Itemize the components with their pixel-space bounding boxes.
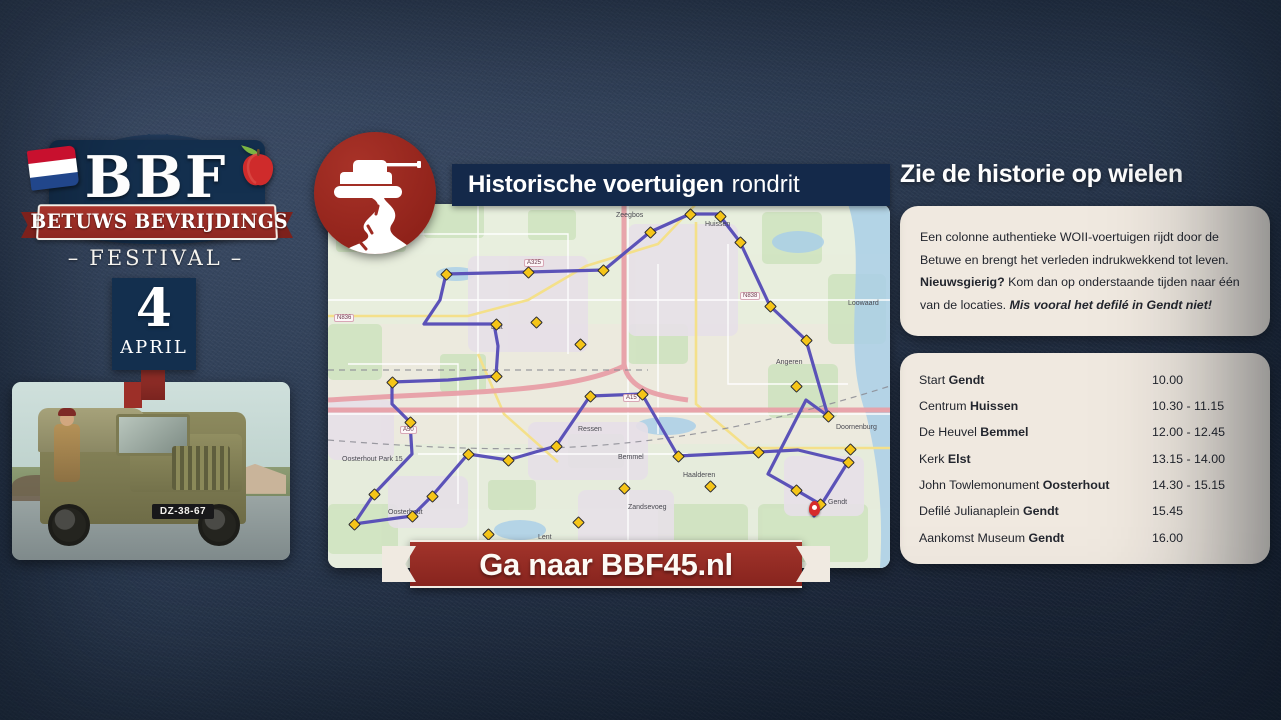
schedule-row: Aankomst Museum Gendt16.00 <box>919 525 1250 551</box>
schedule-location: Start Gendt <box>919 373 1152 387</box>
right-column: Zie de historie op wielen Een colonne au… <box>900 160 1270 564</box>
schedule-row: Kerk Elst13.15 - 14.00 <box>919 445 1250 471</box>
schedule-location-place: Oosterhout <box>1043 478 1110 492</box>
info-bold-1: Nieuwsgierig? <box>920 275 1005 289</box>
photo-flag <box>124 382 142 408</box>
schedule-location-place: Gendt <box>949 373 985 387</box>
netherlands-flag-icon <box>27 145 80 191</box>
schedule-row: De Heuvel Bemmel12.00 - 12.45 <box>919 419 1250 445</box>
festival-label: FESTIVAL <box>89 246 222 270</box>
date-month: APRIL <box>112 337 196 358</box>
gendt-destination-pin[interactable] <box>809 501 820 516</box>
logo-ribbon: BETUWS BEVRIJDINGS <box>21 202 293 242</box>
info-part-1: Een colonne authentieke WOII-voertuigen … <box>920 230 1229 267</box>
dash-left: – <box>68 246 82 270</box>
schedule-location-place: Gendt <box>1029 531 1065 545</box>
schedule-location-place: Huissen <box>970 399 1018 413</box>
schedule-location-prefix: Start <box>919 373 949 387</box>
ribbon-label: BETUWS BEVRIJDINGS <box>31 209 284 233</box>
schedule-location: Defilé Julianaplein Gendt <box>919 504 1152 518</box>
schedule-time: 15.45 <box>1152 504 1250 518</box>
schedule-location: Kerk Elst <box>919 452 1152 466</box>
schedule-time: 16.00 <box>1152 531 1250 545</box>
schedule-location-prefix: De Heuvel <box>919 425 980 439</box>
dash-right: – <box>231 246 245 270</box>
schedule-row: Start Gendt10.00 <box>919 366 1250 392</box>
map-title-light: rondrit <box>732 171 800 199</box>
schedule-location-prefix: Kerk <box>919 452 948 466</box>
festival-subtitle: –FESTIVAL– <box>11 246 301 270</box>
map-title-bar: Historische voertuigen rondrit <box>452 164 890 206</box>
info-paragraph: Een colonne authentieke WOII-voertuigen … <box>920 226 1248 316</box>
soldier-figure <box>54 424 80 482</box>
jeep-photo: DZ-38-67 <box>12 382 290 560</box>
cta-banner[interactable]: Ga naar BBF45.nl <box>382 540 830 588</box>
schedule-card: Start Gendt10.00Centrum Huissen10.30 - 1… <box>900 353 1270 564</box>
schedule-location-place: Gendt <box>1023 504 1059 518</box>
left-column: BBF BETUWS BEVRIJDINGS –FESTIVAL– 4 APRI… <box>0 100 312 580</box>
schedule-location: Centrum Huissen <box>919 399 1152 413</box>
license-plate: DZ-38-67 <box>152 504 214 519</box>
tank-on-road-icon <box>314 132 436 254</box>
schedule-location-prefix: Centrum <box>919 399 970 413</box>
center-column: Historische voertuigen rondrit <box>310 128 890 598</box>
schedule-row: Defilé Julianaplein Gendt15.45 <box>919 498 1250 524</box>
schedule-location: Aankomst Museum Gendt <box>919 531 1152 545</box>
schedule-location-place: Bemmel <box>980 425 1028 439</box>
schedule-row: John Towlemonument Oosterhout14.30 - 15.… <box>919 472 1250 498</box>
apple-icon <box>237 144 279 188</box>
right-heading: Zie de historie op wielen <box>900 160 1270 189</box>
schedule-location-prefix: John Towlemonument <box>919 478 1043 492</box>
map-title-strong: Historische voertuigen <box>468 171 724 199</box>
schedule-time: 12.00 - 12.45 <box>1152 425 1250 439</box>
schedule-location: John Towlemonument Oosterhout <box>919 478 1152 492</box>
info-italic-1: Mis vooral het defilé in Gendt niet! <box>1010 298 1212 312</box>
jeep-wheel-rear <box>48 504 90 546</box>
cta-label: Ga naar BBF45.nl <box>382 547 830 583</box>
schedule-location-place: Elst <box>948 452 971 466</box>
schedule-time: 10.30 - 11.15 <box>1152 399 1250 413</box>
schedule-time: 14.30 - 15.15 <box>1152 478 1250 492</box>
date-stem <box>141 370 165 400</box>
schedule-location-prefix: Defilé Julianaplein <box>919 504 1023 518</box>
jeep-grille <box>172 446 230 490</box>
schedule-list: Start Gendt10.00Centrum Huissen10.30 - 1… <box>919 366 1250 551</box>
date-day: 4 <box>112 278 196 337</box>
route-map[interactable]: HuissenAngerenElstBemmelOosterhoutHaalde… <box>328 204 890 568</box>
event-date-block: 4 APRIL <box>112 278 196 370</box>
schedule-location: De Heuvel Bemmel <box>919 425 1152 439</box>
schedule-time: 10.00 <box>1152 373 1250 387</box>
festival-logo: BBF BETUWS BEVRIJDINGS –FESTIVAL– <box>11 118 301 288</box>
schedule-row: Centrum Huissen10.30 - 11.15 <box>919 393 1250 419</box>
schedule-location-prefix: Aankomst Museum <box>919 531 1029 545</box>
info-card: Een colonne authentieke WOII-voertuigen … <box>900 206 1270 336</box>
schedule-time: 13.15 - 14.00 <box>1152 452 1250 466</box>
soldier-beret <box>58 408 76 416</box>
